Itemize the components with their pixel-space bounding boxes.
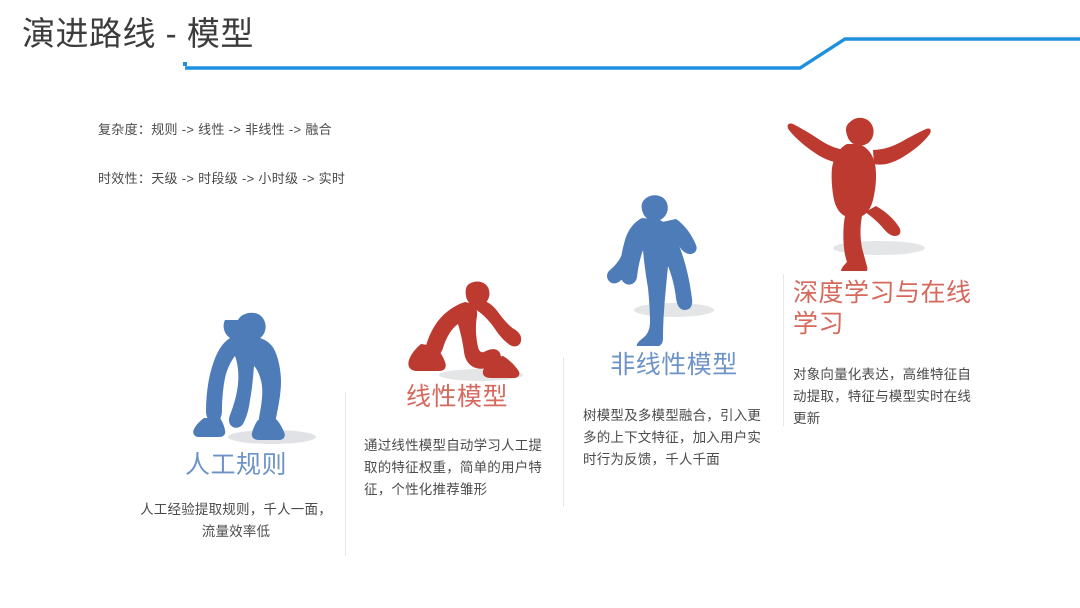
- summary-bullets: 复杂度：规则 -> 线性 -> 非线性 -> 融合 时效性：天级 -> 时段级 …: [98, 120, 518, 218]
- bullet-complexity: 复杂度：规则 -> 线性 -> 非线性 -> 融合: [98, 120, 518, 140]
- page-title: 演进路线 - 模型: [22, 12, 254, 56]
- runner-crouch-start-front-icon: [186, 308, 316, 448]
- stage-3-body: 树模型及多模型融合，引入更多的上下文特征，加入用户实时行为反馈，千人千面: [583, 405, 765, 471]
- stage-4-body: 对象向量化表达，高维特征自动提取，特征与模型实时在线更新: [793, 364, 981, 430]
- stage-block-3: 非线性模型 树模型及多模型融合，引入更多的上下文特征，加入用户实时行为反馈，千人…: [583, 350, 765, 471]
- bullet-timeliness: 时效性：天级 -> 时段级 -> 小时级 -> 实时: [98, 169, 518, 189]
- stage-4-heading: 深度学习与在线学习: [793, 278, 981, 340]
- runner-set-position-side-icon: [407, 278, 527, 383]
- stage-block-1: 人工规则 人工经验提取规则，千人一面，流量效率低: [140, 450, 332, 543]
- slide-canvas: 演进路线 - 模型 复杂度：规则 -> 线性 -> 非线性 -> 融合 时效性：…: [0, 0, 1080, 608]
- stage-3-heading: 非线性模型: [583, 350, 765, 381]
- runner-finish-arms-raised-icon: [787, 112, 932, 272]
- column-divider-2: [563, 357, 564, 507]
- stage-block-4: 深度学习与在线学习 对象向量化表达，高维特征自动提取，特征与模型实时在线更新: [793, 278, 981, 430]
- runner-sprinting-icon: [606, 192, 711, 347]
- column-divider-1: [345, 392, 346, 556]
- stage-2-body: 通过线性模型自动学习人工提取的特征权重，简单的用户特征，个性化推荐雏形: [364, 435, 550, 501]
- stage-1-body: 人工经验提取规则，千人一面，流量效率低: [140, 499, 332, 543]
- stage-2-heading: 线性模型: [364, 382, 550, 413]
- stage-1-heading: 人工规则: [140, 450, 332, 481]
- column-divider-3: [783, 274, 784, 426]
- stage-block-2: 线性模型 通过线性模型自动学习人工提取的特征权重，简单的用户特征，个性化推荐雏形: [364, 382, 550, 501]
